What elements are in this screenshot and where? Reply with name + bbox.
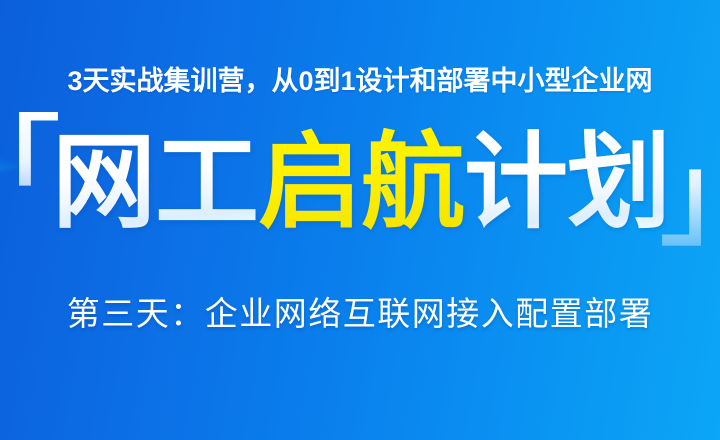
banner-title: 「 网工启航计划 」 bbox=[0, 116, 720, 250]
title-segment-3: 计划 bbox=[464, 127, 670, 239]
banner-subtitle: 3天实战集训营，从0到1设计和部署中小型企业网 bbox=[0, 62, 720, 100]
promo-banner: 3天实战集训营，从0到1设计和部署中小型企业网 「 网工启航计划 」 第三天：企… bbox=[0, 0, 720, 440]
title-segment-1: 网工 bbox=[52, 127, 258, 239]
banner-title-text: 网工启航计划 bbox=[52, 127, 670, 239]
quote-bracket-open-icon: 「 bbox=[0, 112, 60, 224]
banner-session-line: 第三天：企业网络互联网接入配置部署 bbox=[0, 291, 720, 337]
title-segment-2-accent: 启航 bbox=[258, 127, 464, 239]
